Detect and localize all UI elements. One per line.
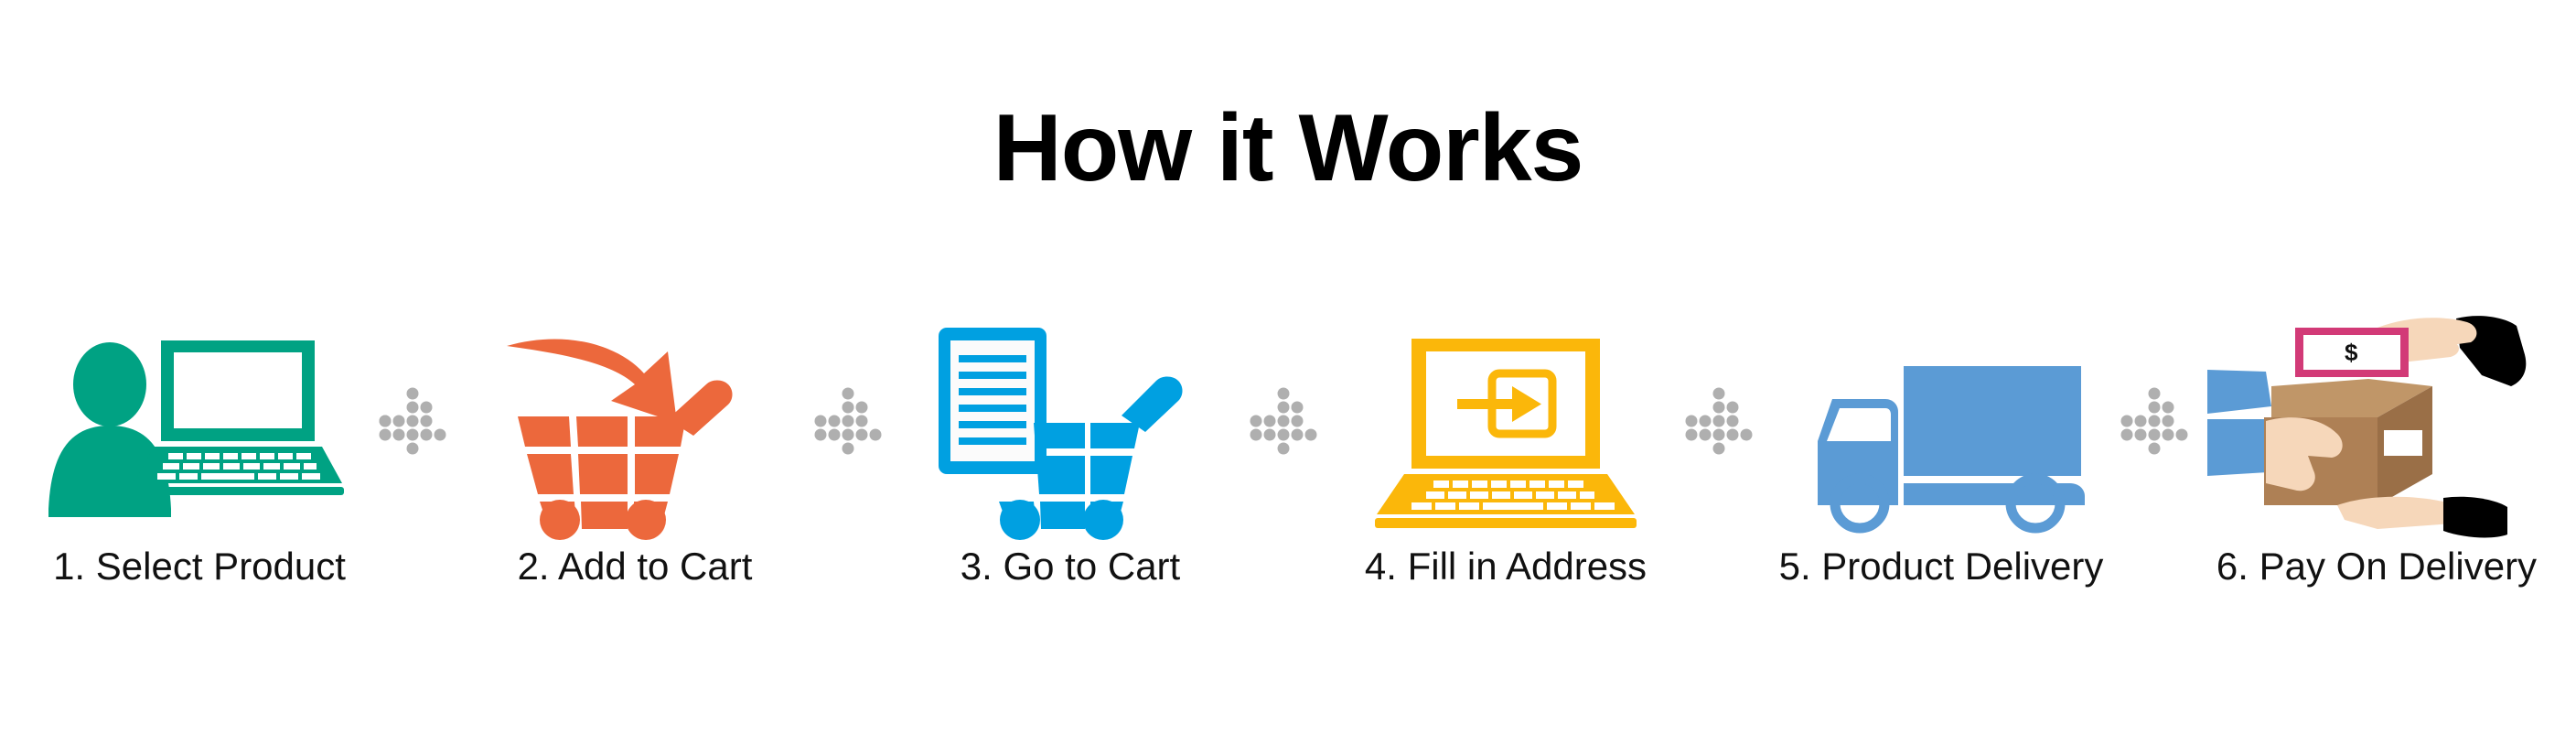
person-with-laptop-icon bbox=[44, 329, 355, 540]
dotted-right-arrow-icon bbox=[814, 387, 891, 455]
step-5-product-delivery[interactable]: 5. Product Delivery bbox=[1767, 302, 2115, 632]
separator-arrow-2 bbox=[809, 302, 896, 540]
dotted-right-arrow-icon bbox=[2120, 387, 2197, 455]
separator-arrow-1 bbox=[373, 302, 461, 540]
step-2-label: 2. Add to Cart bbox=[518, 547, 753, 586]
step-3-label: 3. Go to Cart bbox=[961, 547, 1180, 586]
hands-exchanging-box-and-cash-icon: $ bbox=[2207, 311, 2546, 540]
step-3-go-to-cart[interactable]: 3. Go to Cart bbox=[896, 302, 1244, 632]
step-6-label: 6. Pay On Delivery bbox=[2216, 547, 2537, 586]
step-4-label: 4. Fill in Address bbox=[1365, 547, 1647, 586]
step-1-label: 1. Select Product bbox=[53, 547, 346, 586]
cart-wheels-icon bbox=[933, 500, 1207, 545]
step-1-select-product[interactable]: 1. Select Product bbox=[26, 302, 373, 632]
cart-wheels-icon bbox=[498, 500, 772, 545]
separator-arrow-4 bbox=[1680, 302, 1767, 540]
step-4-illustration bbox=[1332, 302, 1680, 540]
step-4-fill-in-address[interactable]: 4. Fill in Address bbox=[1332, 302, 1680, 632]
step-2-illustration bbox=[461, 302, 809, 540]
step-3-illustration bbox=[896, 302, 1244, 540]
dotted-right-arrow-icon bbox=[1250, 387, 1326, 455]
dotted-right-arrow-icon bbox=[379, 387, 456, 455]
step-6-pay-on-delivery[interactable]: $ bbox=[2203, 302, 2550, 632]
how-it-works-infographic: How it Works bbox=[0, 0, 2576, 745]
separator-arrow-5 bbox=[2115, 302, 2203, 540]
delivery-truck-icon bbox=[1790, 357, 2092, 540]
laptop-with-login-arrow-icon bbox=[1355, 329, 1657, 540]
step-5-label: 5. Product Delivery bbox=[1779, 547, 2104, 586]
page-title: How it Works bbox=[0, 101, 2576, 196]
step-5-illustration bbox=[1767, 302, 2115, 540]
step-1-illustration bbox=[26, 302, 373, 540]
step-6-illustration: $ bbox=[2203, 302, 2550, 540]
steps-row: 1. Select Product bbox=[0, 302, 2576, 632]
dotted-right-arrow-icon bbox=[1685, 387, 1762, 455]
banknote-dollar-symbol: $ bbox=[2345, 339, 2358, 366]
step-2-add-to-cart[interactable]: 2. Add to Cart bbox=[461, 302, 809, 632]
separator-arrow-3 bbox=[1244, 302, 1332, 540]
